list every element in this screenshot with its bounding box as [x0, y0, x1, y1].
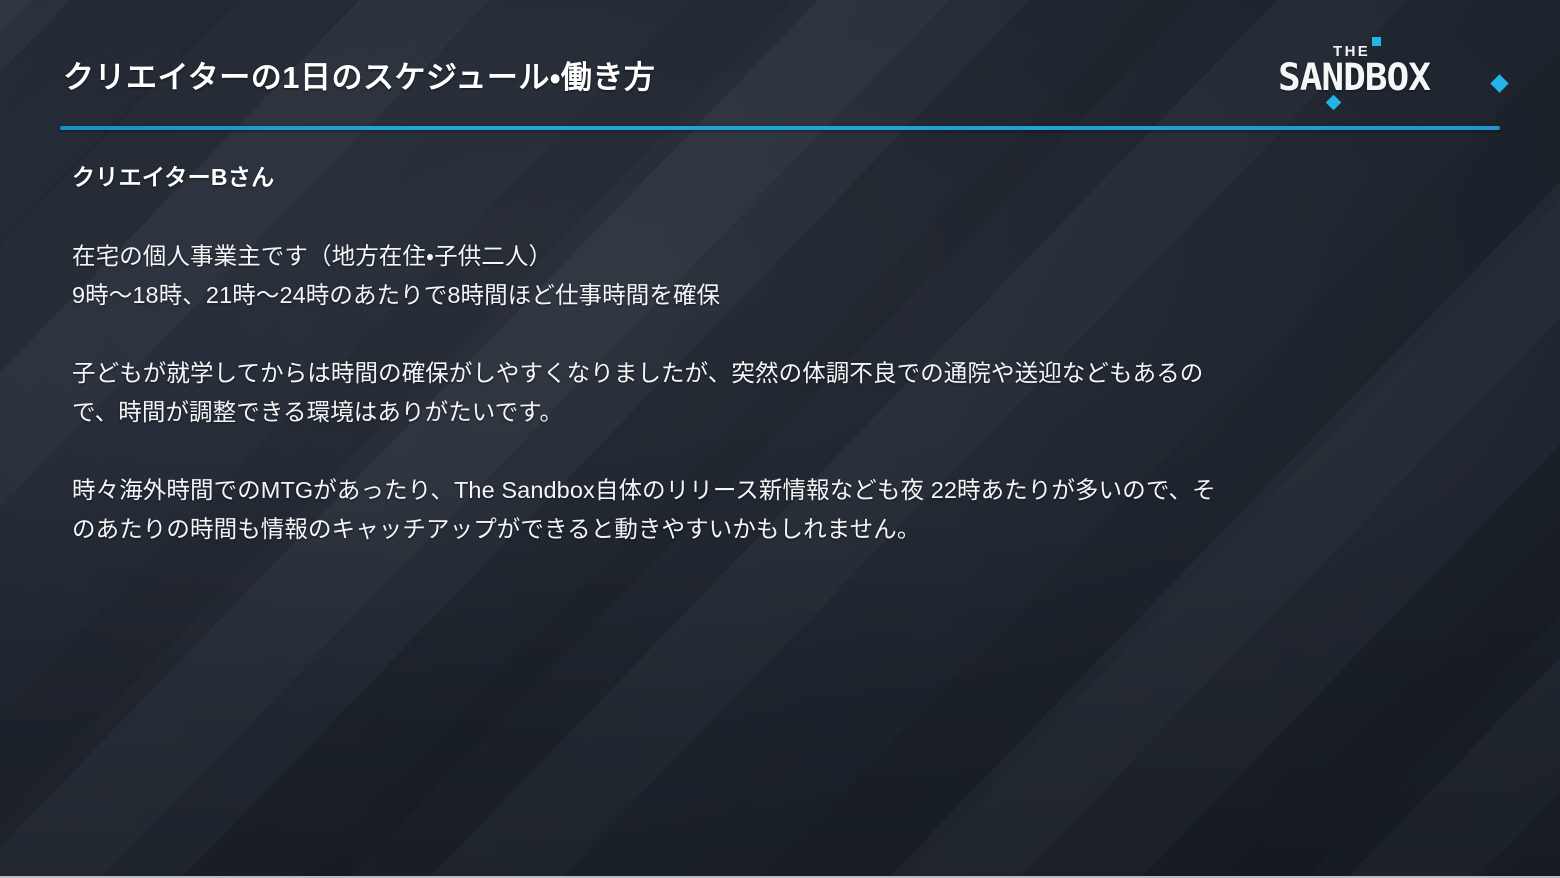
title-divider-rule — [60, 126, 1500, 130]
section-subheading: クリエイターBさん — [72, 158, 1490, 192]
paragraph-3-line-2: のあたりの時間も情報のキャッチアップができると動きやすいかもしれません。 — [72, 510, 1472, 549]
logo-wordmark: SANDBOX — [1278, 59, 1430, 96]
slide-body: クリエイターBさん 在宅の個人事業主です（地方在住・子供二人） 9時〜18時、2… — [72, 158, 1490, 549]
paragraph-3-line-1: 時々海外時間でのMTGがあったり、The Sandbox自体のリリース新情報など… — [72, 471, 1472, 510]
paragraph-1-line-2: 9時〜18時、21時〜24時のあたりで8時間ほど仕事時間を確保 — [72, 276, 1472, 315]
logo-square-dot-icon — [1372, 37, 1381, 46]
slide-canvas: クリエイターの1日のスケジュール・働き方 THE SANDBOX クリエイターB… — [0, 0, 1560, 878]
paragraph-2-line-2: で、時間が調整できる環境はありがたいです。 — [72, 393, 1472, 432]
logo-diamond-right-icon — [1490, 74, 1508, 92]
page-title: クリエイターの1日のスケジュール・働き方 — [63, 52, 655, 97]
slide-header: クリエイターの1日のスケジュール・働き方 THE SANDBOX — [0, 0, 1560, 135]
paragraph-2-line-1: 子どもが就学してからは時間の確保がしやすくなりましたが、突然の体調不良での通院や… — [72, 354, 1472, 393]
sandbox-logo: THE SANDBOX — [1278, 44, 1508, 106]
body-paragraph-3: 時々海外時間でのMTGがあったり、The Sandbox自体のリリース新情報など… — [72, 471, 1472, 549]
body-paragraph-1: 在宅の個人事業主です（地方在住・子供二人） 9時〜18時、21時〜24時のあたり… — [72, 237, 1472, 315]
body-paragraph-2: 子どもが就学してからは時間の確保がしやすくなりましたが、突然の体調不良での通院や… — [72, 354, 1472, 432]
paragraph-1-line-1: 在宅の個人事業主です（地方在住・子供二人） — [72, 237, 1472, 276]
